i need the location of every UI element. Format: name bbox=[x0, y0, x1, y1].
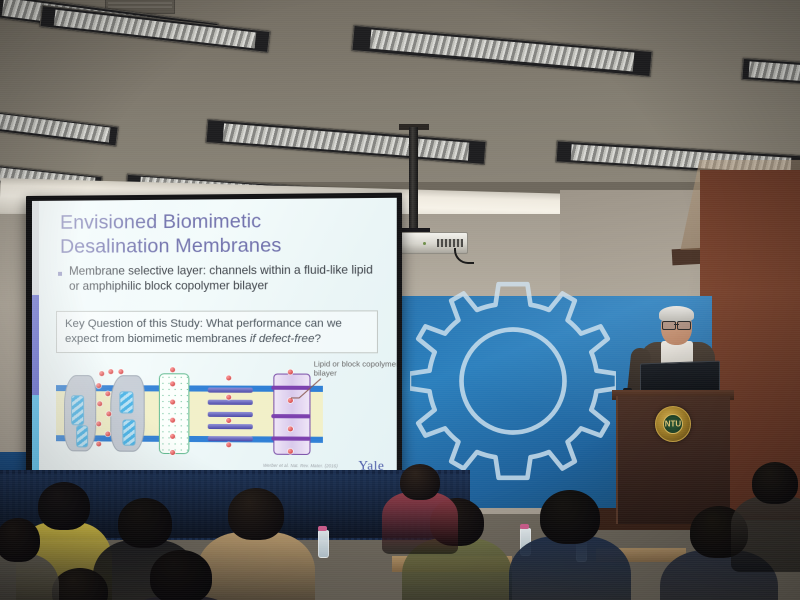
water-molecule bbox=[99, 371, 104, 376]
water-molecule bbox=[226, 418, 231, 423]
bullet-marker-icon bbox=[58, 272, 62, 276]
attendee-black-jacket-left-head bbox=[118, 498, 172, 548]
key-question-box: Key Question of this Study: What perform… bbox=[56, 310, 378, 353]
water-molecule bbox=[108, 369, 113, 374]
attendee-back-right-body bbox=[731, 496, 800, 572]
macrocycle-disc bbox=[208, 412, 253, 417]
slide-title-line-2: Desalination Membranes bbox=[60, 233, 382, 259]
water-molecule bbox=[170, 381, 175, 386]
water-molecule bbox=[97, 401, 102, 406]
attendee-navy-coat-body bbox=[509, 536, 631, 600]
water-molecule bbox=[170, 418, 175, 423]
projector-led bbox=[423, 242, 426, 245]
water-molecule bbox=[96, 421, 101, 426]
projector-pole bbox=[409, 127, 418, 235]
attendee-dark-head-front-head bbox=[150, 550, 212, 600]
macrocycle-disc bbox=[208, 424, 253, 429]
water-molecule bbox=[288, 369, 293, 374]
slide-title: Envisioned Biomimetic Desalination Membr… bbox=[60, 208, 382, 259]
key-question-tail: ? bbox=[315, 332, 322, 344]
attendee-tan-jacket-head bbox=[228, 488, 284, 540]
water-molecule bbox=[226, 375, 231, 380]
water-molecule bbox=[226, 395, 231, 400]
callout-leader-line bbox=[291, 378, 322, 400]
water-molecule bbox=[170, 400, 175, 405]
water-molecule bbox=[106, 411, 111, 416]
attendee-red-shirt-body bbox=[382, 492, 458, 554]
speaker-glasses-icon bbox=[662, 321, 691, 328]
water-molecule bbox=[118, 369, 123, 374]
podium-seal-icon: NTU bbox=[655, 406, 691, 442]
speaker-hair bbox=[659, 306, 694, 322]
key-question-text: Key Question of this Study: What perform… bbox=[65, 317, 369, 347]
channel-band bbox=[271, 414, 310, 418]
macrocycle-disc bbox=[208, 400, 253, 405]
attendee-yellow-jacket-head bbox=[38, 482, 90, 530]
slide-accent-bar bbox=[32, 201, 39, 478]
water-molecule bbox=[288, 426, 293, 431]
water-molecule bbox=[96, 383, 101, 388]
lecture-hall-scene: NTU Envisioned Biomimetic Desalination M… bbox=[0, 0, 800, 600]
projector-vent bbox=[437, 239, 463, 247]
water-molecule bbox=[170, 367, 175, 372]
macrocycle-disc bbox=[208, 388, 253, 393]
slide: Envisioned Biomimetic Desalination Membr… bbox=[32, 198, 397, 481]
alpha-helix bbox=[119, 391, 133, 413]
audience bbox=[0, 440, 800, 600]
attendee-far-left-edge-head bbox=[0, 518, 40, 562]
podium-seal-glyph: NTU bbox=[656, 420, 690, 429]
key-question-emphasis: if defect-free bbox=[250, 332, 315, 344]
water-molecule bbox=[105, 431, 110, 436]
water-molecule bbox=[105, 391, 110, 396]
attendee-tan-jacket-body bbox=[197, 532, 315, 600]
alpha-helix bbox=[71, 395, 84, 425]
screen-surface: Envisioned Biomimetic Desalination Membr… bbox=[32, 198, 397, 481]
attendee-red-shirt-head bbox=[400, 464, 440, 500]
attendee-back-right-head bbox=[752, 462, 798, 504]
diagram-callout-label: Lipid or block copolymer bilayer bbox=[314, 359, 397, 378]
water-molecule bbox=[170, 434, 175, 439]
attendee-navy-coat-head bbox=[540, 490, 600, 544]
slide-title-line-1: Envisioned Biomimetic bbox=[60, 208, 382, 235]
slide-bullet: Membrane selective layer: channels withi… bbox=[58, 263, 384, 294]
bullet-text: Membrane selective layer: channels withi… bbox=[69, 263, 384, 294]
